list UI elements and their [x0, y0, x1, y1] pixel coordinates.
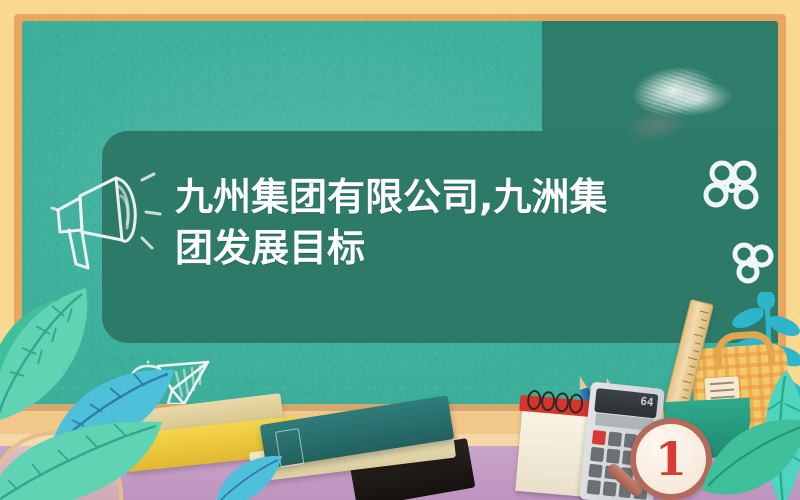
title-line-1: 九州集团有限公司,九洲集 [175, 172, 645, 223]
leaf-small-bottom [214, 452, 284, 500]
chalk-smudge-strokes [615, 47, 745, 141]
title-line-2: 团发展目标 [175, 223, 645, 274]
banner-image: 九州集团有限公司,九洲集 团发展目标 [0, 0, 800, 500]
megaphone-icon [42, 168, 162, 278]
flower-large-icon [700, 155, 764, 219]
page-title: 九州集团有限公司,九洲集 团发展目标 [175, 172, 645, 274]
flower-small-icon [726, 238, 778, 288]
leaf-broad-left [0, 418, 166, 500]
backpack-name-tag [704, 376, 739, 400]
chalk-smudge-icon [615, 47, 745, 141]
leaf-broad-right [700, 416, 800, 500]
